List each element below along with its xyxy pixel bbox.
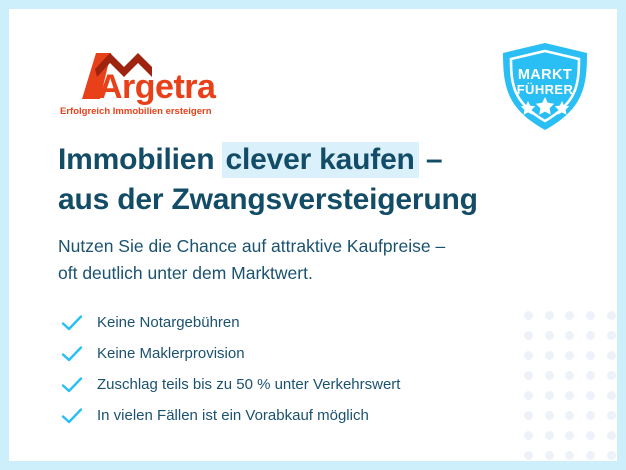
decorative-dot [607,371,616,380]
logo-tagline: Erfolgreich Immobilien ersteigern [60,106,212,117]
subheadline-line-1: Nutzen Sie die Chance auf attraktive Kau… [58,233,578,260]
badge-line1: MARKT [518,67,572,83]
decorative-dot [607,331,616,340]
decorative-dot [586,391,595,400]
check-icon [61,345,83,363]
decorative-dot [565,331,574,340]
decorative-dot [586,331,595,340]
check-icon [61,314,83,332]
decorative-dot [545,431,554,440]
check-icon [61,407,83,425]
decorative-dot [524,431,533,440]
decorative-dot [545,331,554,340]
decorative-dot [607,451,616,460]
dot-grid-decoration [518,305,617,461]
decorative-dot [524,331,533,340]
decorative-dot [565,371,574,380]
headline-line-1: Immobilien clever kaufen – [58,140,578,180]
decorative-dot [545,371,554,380]
list-item-label: Keine Notargebühren [97,315,240,330]
decorative-dot [586,451,595,460]
headline-line-2: aus der Zwangsversteigerung [58,180,578,220]
decorative-dot [586,311,595,320]
decorative-dot [565,411,574,420]
badge-line2: FÜHRER [517,82,574,97]
decorative-dot [524,311,533,320]
page-title: Immobilien clever kaufen – aus der Zwang… [58,140,578,219]
argetra-logo: Argetra Erfolgreich Immobilien ersteiger… [58,47,243,119]
list-item: Keine Maklerprovision [61,338,521,369]
list-item: Keine Notargebühren [61,307,521,338]
decorative-dot [545,451,554,460]
decorative-dot [524,391,533,400]
decorative-dot [545,411,554,420]
decorative-dot [586,431,595,440]
decorative-dot [545,351,554,360]
shield-badge-icon: MARKT FÜHRER [495,39,595,134]
decorative-dot [565,351,574,360]
list-item-label: Zuschlag teils bis zu 50 % unter Verkehr… [97,377,400,392]
decorative-dot [545,311,554,320]
list-item: Zuschlag teils bis zu 50 % unter Verkehr… [61,369,521,400]
list-item: In vielen Fällen ist ein Vorabkauf mögli… [61,400,521,431]
decorative-dot [524,371,533,380]
decorative-dot [586,351,595,360]
decorative-dot [524,451,533,460]
headline-highlight: clever kaufen [222,142,419,178]
headline-text-before: Immobilien [58,143,223,176]
decorative-dot [607,431,616,440]
decorative-dot [586,371,595,380]
list-item-label: In vielen Fällen ist ein Vorabkauf mögli… [97,408,369,423]
benefits-list: Keine Notargebühren Keine Maklerprovisio… [61,307,521,431]
decorative-dot [607,411,616,420]
subheadline: Nutzen Sie die Chance auf attraktive Kau… [58,233,578,286]
headline-text-after: – [418,143,443,176]
logo-wordmark: Argetra [98,68,217,106]
decorative-dot [607,351,616,360]
decorative-dot [565,391,574,400]
check-icon [61,376,83,394]
decorative-dot [524,351,533,360]
decorative-dot [607,391,616,400]
decorative-dot [565,431,574,440]
promo-banner: Argetra Erfolgreich Immobilien ersteiger… [0,0,626,470]
list-item-label: Keine Maklerprovision [97,346,245,361]
marktfuehrer-badge: MARKT FÜHRER [495,39,595,134]
decorative-dot [524,411,533,420]
argetra-logo-svg: Argetra Erfolgreich Immobilien ersteiger… [58,47,243,119]
decorative-dot [565,451,574,460]
decorative-dot [607,311,616,320]
decorative-dot [545,391,554,400]
subheadline-line-2: oft deutlich unter dem Marktwert. [58,260,578,287]
decorative-dot [586,411,595,420]
banner-card: Argetra Erfolgreich Immobilien ersteiger… [9,9,617,461]
decorative-dot [565,311,574,320]
